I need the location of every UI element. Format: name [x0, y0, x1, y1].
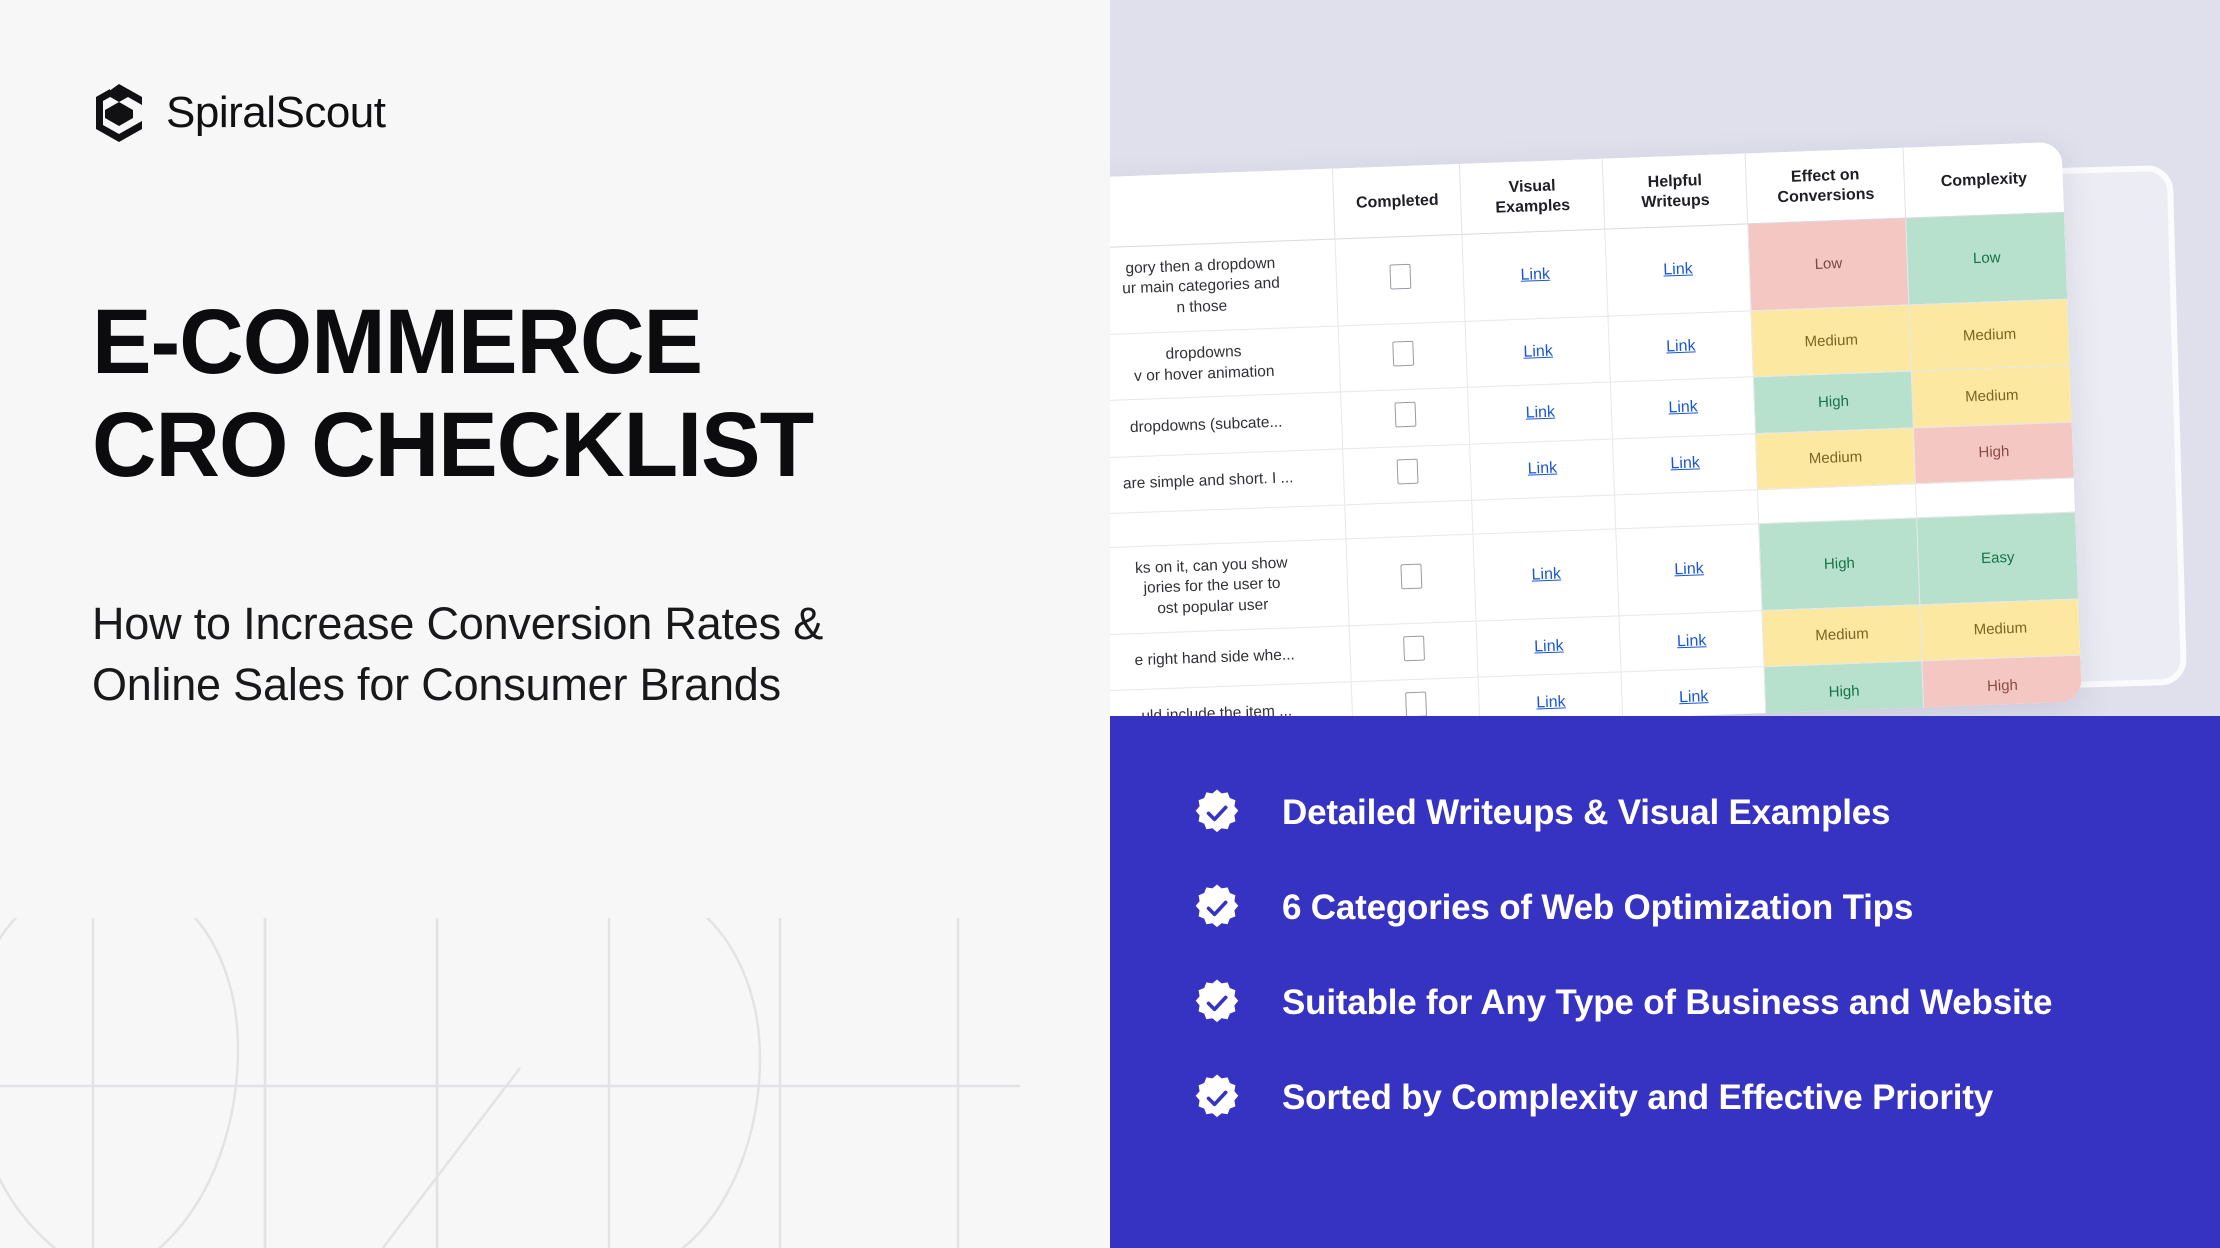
cell-helpful-writeup[interactable]: Link: [1616, 523, 1762, 615]
check-seal-icon: [1192, 788, 1242, 838]
cell-task: gory then a dropdown ur main categories …: [1110, 239, 1338, 336]
link-anchor[interactable]: Link: [1663, 261, 1693, 279]
column-header-effect: Effect on Conversions: [1745, 148, 1906, 224]
link-anchor[interactable]: Link: [1520, 266, 1550, 284]
brand-logo[interactable]: SpiralScout: [92, 84, 386, 142]
cell-empty: [1758, 484, 1917, 524]
feature-label: Suitable for Any Type of Business and We…: [1282, 982, 2052, 1024]
check-seal-icon: [1192, 1073, 1242, 1123]
cell-task: dropdowns v or hover animation: [1110, 326, 1341, 402]
cell-empty: [1615, 489, 1759, 528]
cell-helpful-writeup[interactable]: Link: [1611, 377, 1756, 438]
link-anchor[interactable]: Link: [1679, 688, 1709, 706]
cell-complexity: Medium: [1920, 599, 2080, 661]
features-panel: Detailed Writeups & Visual Examples 6 Ca…: [1110, 716, 2220, 1248]
link-anchor[interactable]: Link: [1534, 637, 1564, 655]
feature-label: Sorted by Complexity and Effective Prior…: [1282, 1077, 1993, 1119]
subtitle-line-1: How to Increase Conversion Rates &: [92, 593, 1012, 654]
link-anchor[interactable]: Link: [1670, 455, 1700, 473]
cell-complexity: Medium: [1912, 366, 2072, 428]
cell-visual-example[interactable]: Link: [1466, 316, 1611, 388]
link-anchor[interactable]: Link: [1666, 337, 1696, 355]
cell-visual-example[interactable]: Link: [1473, 529, 1619, 621]
empty-checkbox-icon[interactable]: [1389, 264, 1411, 290]
cell-helpful-writeup[interactable]: Link: [1619, 611, 1764, 672]
link-anchor[interactable]: Link: [1527, 460, 1557, 478]
empty-checkbox-icon[interactable]: [1403, 636, 1425, 662]
link-anchor[interactable]: Link: [1668, 399, 1698, 417]
cover-page: SpiralScout E-COMMERCE CRO CHECKLIST How…: [0, 0, 2220, 1248]
check-seal-icon: [1192, 883, 1242, 933]
cell-completed[interactable]: [1335, 234, 1466, 326]
feature-label: 6 Categories of Web Optimization Tips: [1282, 887, 1913, 929]
link-anchor[interactable]: Link: [1674, 560, 1704, 578]
cell-complexity: Easy: [1917, 512, 2078, 605]
subtitle-line-2: Online Sales for Consumer Brands: [92, 654, 1012, 715]
cell-helpful-writeup[interactable]: Link: [1608, 311, 1753, 383]
feature-label: Detailed Writeups & Visual Examples: [1282, 792, 1890, 834]
cell-task: dropdowns (subcate...: [1110, 392, 1343, 458]
feature-item: 6 Categories of Web Optimization Tips: [1192, 883, 2220, 933]
cell-effect-on-conversions: Medium: [1751, 305, 1911, 377]
headline-line-1: E-COMMERCE: [92, 291, 1014, 394]
cell-empty: [1472, 495, 1616, 534]
cell-complexity: Medium: [1909, 299, 2070, 371]
column-header-helpful: Helpful Writeups: [1603, 153, 1748, 228]
cell-helpful-writeup[interactable]: Link: [1605, 224, 1751, 316]
cro-checklist-table: Completed Visual Examples Helpful Writeu…: [1110, 142, 2082, 738]
page-title: E-COMMERCE CRO CHECKLIST: [92, 291, 1014, 497]
cell-complexity: Low: [1906, 212, 2067, 305]
feature-item: Suitable for Any Type of Business and We…: [1192, 978, 2220, 1028]
cell-task: e right hand side whe...: [1110, 626, 1351, 692]
cell-completed[interactable]: [1341, 388, 1471, 449]
cell-effect-on-conversions: High: [1759, 518, 1920, 611]
link-anchor[interactable]: Link: [1523, 343, 1553, 361]
cell-helpful-writeup[interactable]: Link: [1613, 433, 1758, 494]
column-header-visual: Visual Examples: [1460, 159, 1605, 234]
feature-item: Detailed Writeups & Visual Examples: [1192, 788, 2220, 838]
column-header-completed: Completed: [1332, 164, 1462, 239]
cell-complexity: High: [1914, 422, 2074, 484]
spiral-hexagon-logo-icon: [92, 84, 146, 142]
cell-effect-on-conversions: High: [1764, 661, 1924, 723]
feature-list: Detailed Writeups & Visual Examples 6 Ca…: [1110, 788, 2220, 1123]
cell-completed[interactable]: [1343, 444, 1473, 505]
cell-visual-example[interactable]: Link: [1470, 439, 1615, 500]
cell-effect-on-conversions: Low: [1748, 218, 1909, 311]
empty-checkbox-icon[interactable]: [1405, 692, 1427, 718]
cell-task: ks on it, can you show jories for the us…: [1110, 539, 1349, 636]
link-anchor[interactable]: Link: [1525, 404, 1555, 422]
cell-effect-on-conversions: Medium: [1762, 605, 1922, 667]
cell-complexity: High: [1922, 655, 2082, 717]
decorative-outline-letters: [0, 918, 1020, 1248]
empty-checkbox-icon[interactable]: [1394, 402, 1416, 428]
link-anchor[interactable]: Link: [1536, 693, 1566, 711]
column-header-complexity: Complexity: [1903, 142, 2064, 218]
cell-completed[interactable]: [1349, 621, 1479, 682]
left-content-panel: SpiralScout E-COMMERCE CRO CHECKLIST How…: [0, 0, 1110, 1248]
headline-line-2: CRO CHECKLIST: [92, 394, 1014, 497]
check-seal-icon: [1192, 978, 1242, 1028]
cell-completed[interactable]: [1338, 321, 1468, 392]
cell-visual-example[interactable]: Link: [1468, 383, 1613, 444]
cell-effect-on-conversions: High: [1753, 371, 1913, 433]
cell-task: are simple and short. I ...: [1110, 448, 1345, 514]
cell-completed[interactable]: [1346, 534, 1477, 626]
cell-visual-example[interactable]: Link: [1477, 616, 1622, 677]
cell-empty: [1345, 500, 1474, 539]
empty-checkbox-icon[interactable]: [1400, 564, 1422, 590]
brand-name: SpiralScout: [166, 91, 386, 135]
feature-item: Sorted by Complexity and Effective Prior…: [1192, 1073, 2220, 1123]
cell-visual-example[interactable]: Link: [1462, 229, 1608, 321]
link-anchor[interactable]: Link: [1677, 632, 1707, 650]
empty-checkbox-icon[interactable]: [1396, 458, 1418, 484]
cell-empty: [1916, 478, 2075, 518]
cell-effect-on-conversions: Medium: [1756, 428, 1916, 490]
column-header-task: [1110, 169, 1335, 249]
page-subtitle: How to Increase Conversion Rates & Onlin…: [92, 593, 1012, 715]
link-anchor[interactable]: Link: [1531, 566, 1561, 584]
empty-checkbox-icon[interactable]: [1392, 341, 1414, 367]
spreadsheet-card: Completed Visual Examples Helpful Writeu…: [1110, 142, 2082, 738]
